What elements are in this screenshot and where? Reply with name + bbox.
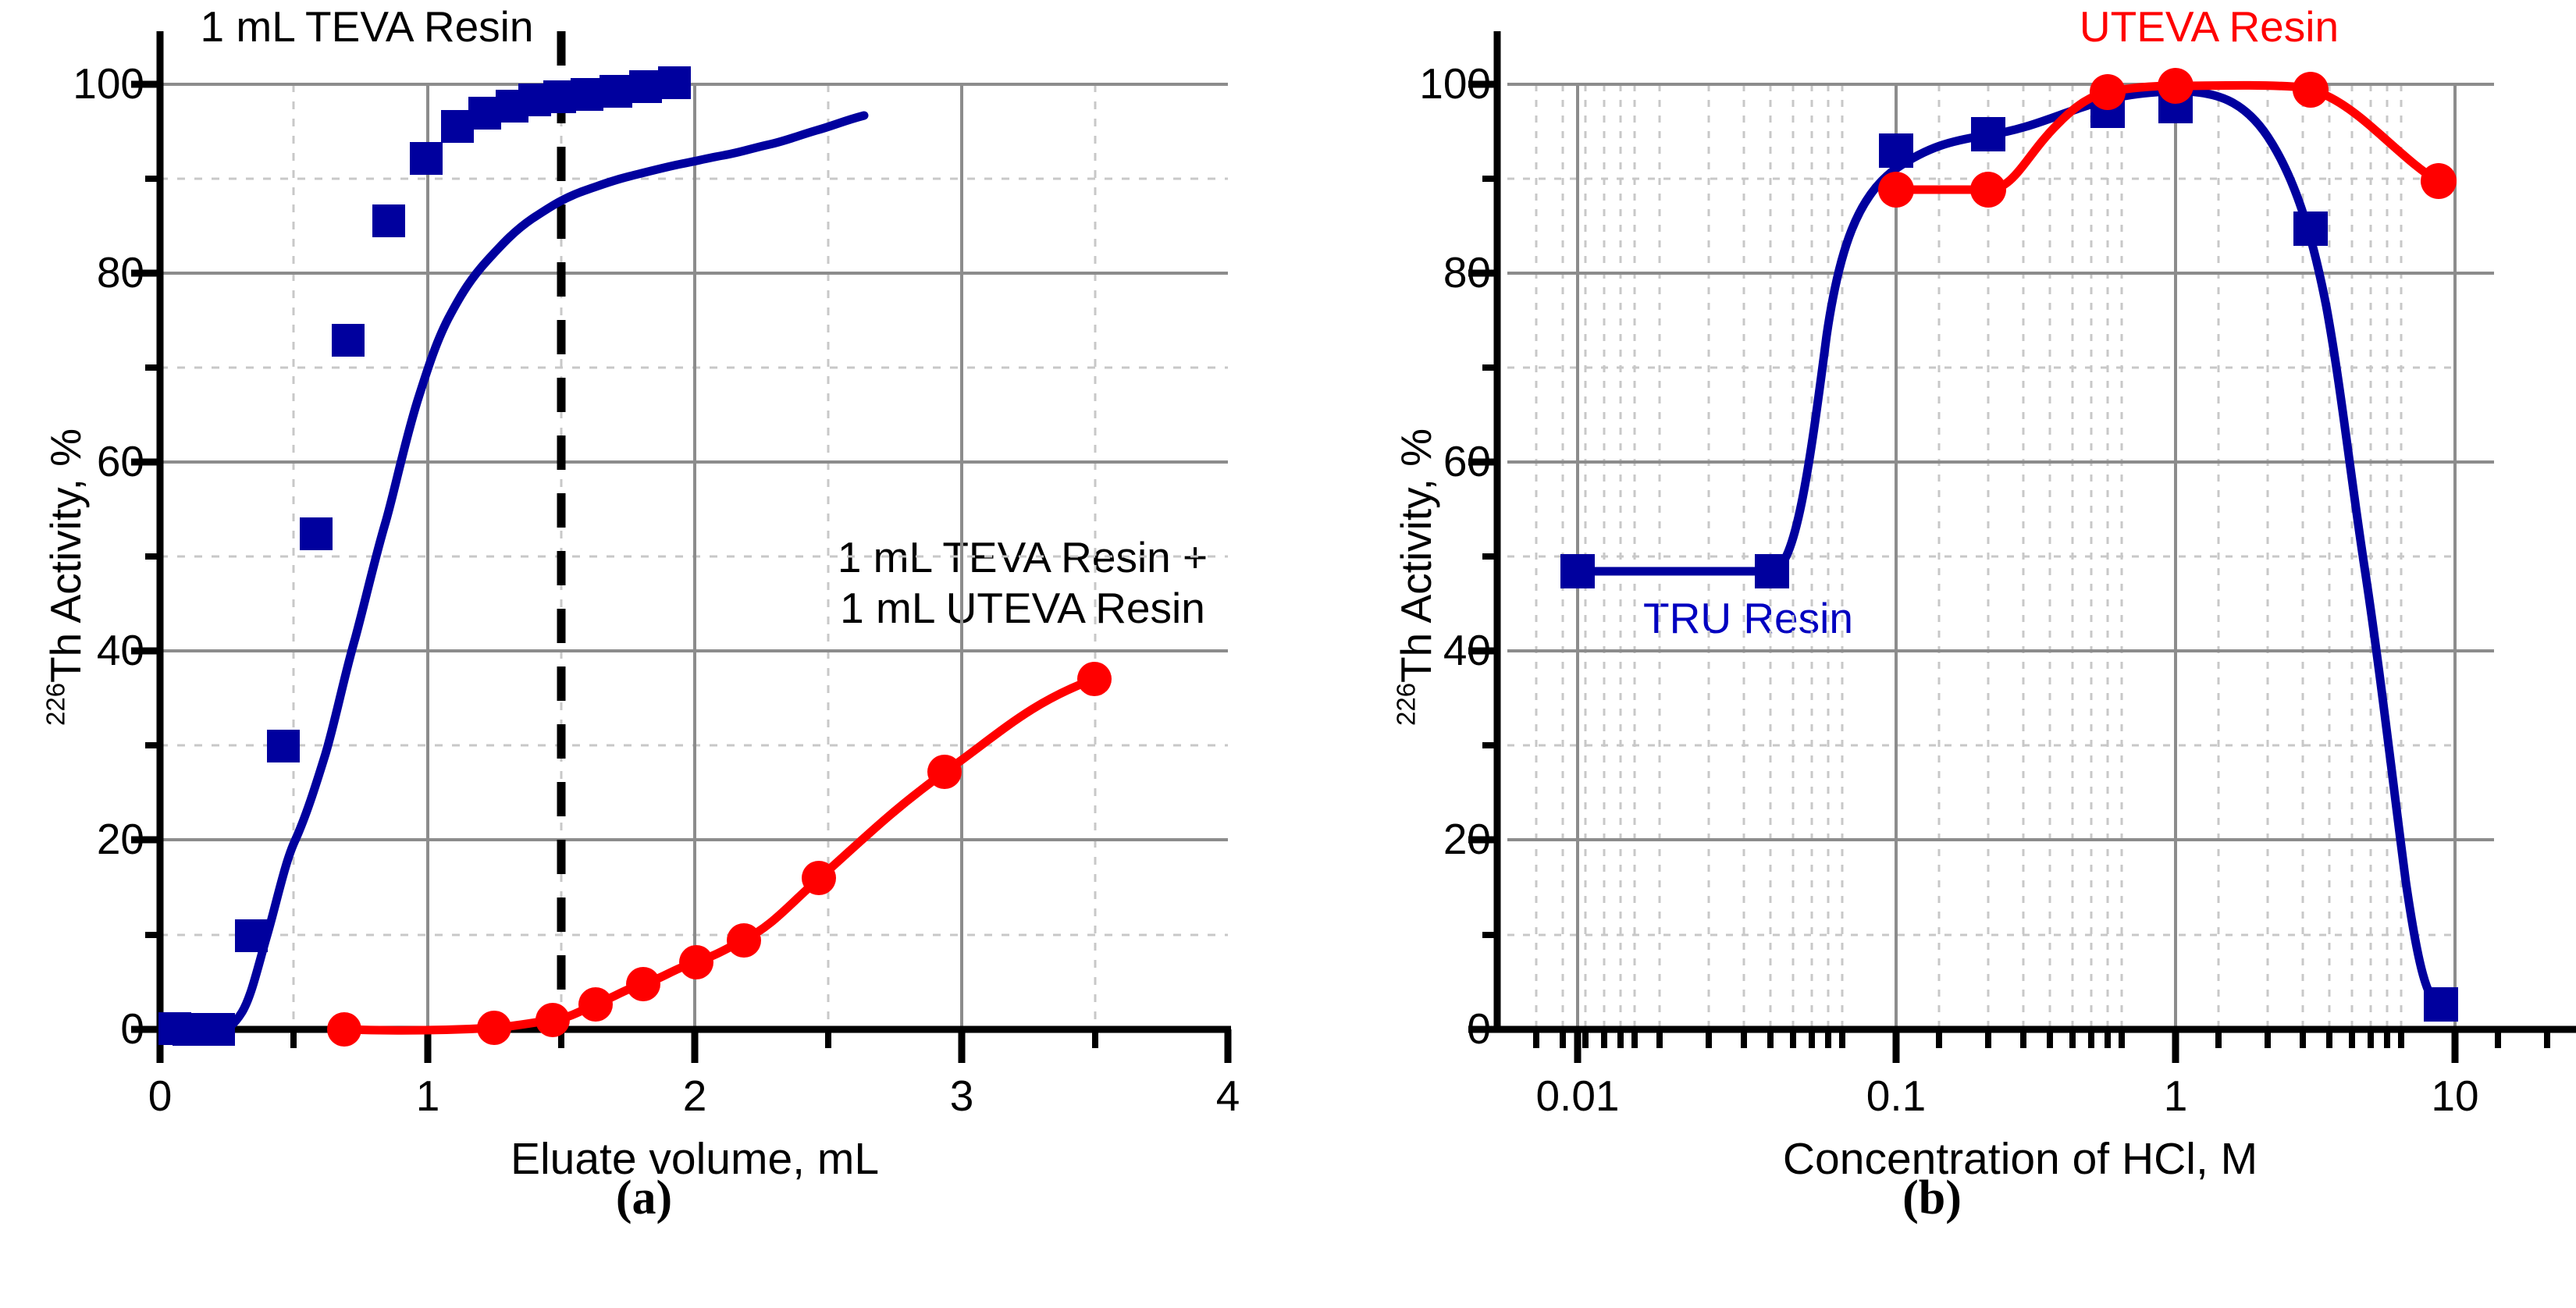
panel-a-caption: (a) xyxy=(0,1171,1288,1226)
panel-a-plot xyxy=(0,0,1288,1308)
panel-b-major-grid xyxy=(1507,84,2494,1029)
panel-a-blue-curve xyxy=(173,116,864,1035)
panel-a-red-markers xyxy=(327,662,1112,1047)
panel-b: 226Th Activity, % 100 80 60 40 20 0 0.01… xyxy=(1288,0,2576,1308)
panel-a-red-curve xyxy=(344,679,1094,1030)
panel-a: 1 mL TEVA Resin 226Th Activity, % 100 80… xyxy=(0,0,1288,1308)
panel-b-plot xyxy=(1288,0,2576,1308)
panel-b-caption: (b) xyxy=(1288,1171,2576,1226)
panel-a-x-major-ticks xyxy=(160,1029,1228,1063)
figure-root: 1 mL TEVA Resin 226Th Activity, % 100 80… xyxy=(0,0,2576,1308)
